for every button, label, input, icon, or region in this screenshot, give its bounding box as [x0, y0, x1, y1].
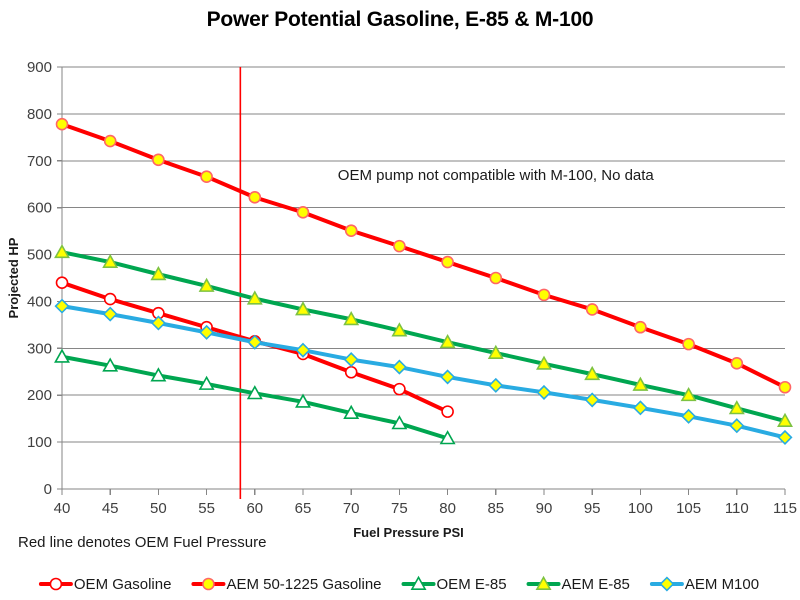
datapoint-0-7 — [394, 384, 405, 395]
x-tick-label-70: 70 — [343, 500, 360, 517]
datapoint-4-2 — [152, 317, 165, 330]
datapoint-1-8 — [442, 257, 453, 268]
x-tick-label-85: 85 — [487, 500, 504, 517]
datapoint-1-1 — [105, 136, 116, 147]
datapoint-1-0 — [57, 119, 68, 130]
datapoint-0-0 — [57, 277, 68, 288]
y-tick-label-200: 200 — [27, 387, 52, 404]
x-tick-label-95: 95 — [584, 500, 601, 517]
y-tick-label-900: 900 — [27, 59, 52, 76]
x-tick-label-50: 50 — [150, 500, 167, 517]
y-tick-label-100: 100 — [27, 434, 52, 451]
datapoint-0-8 — [442, 406, 453, 417]
datapoint-0-6 — [346, 367, 357, 378]
legend-item-4[interactable]: AEM M100 — [652, 576, 759, 593]
x-tick-label-115: 115 — [773, 500, 797, 517]
datapoint-1-5 — [298, 207, 309, 218]
datapoint-1-4 — [249, 192, 260, 203]
legend-label-4: AEM M100 — [685, 576, 759, 593]
series-aem-50-1225-gasoline — [57, 119, 791, 393]
series-oem-e-85 — [55, 350, 454, 443]
y-tick-label-500: 500 — [27, 247, 52, 264]
datapoint-4-10 — [538, 386, 551, 399]
datapoint-4-14 — [730, 419, 743, 432]
series-line-4 — [62, 306, 785, 437]
legend-marker-0 — [50, 579, 61, 590]
datapoint-4-9 — [489, 379, 502, 392]
y-tick-label-400: 400 — [27, 293, 52, 310]
datapoint-1-14 — [731, 358, 742, 369]
datapoint-1-13 — [683, 339, 694, 350]
legend-label-2: OEM E-85 — [437, 576, 507, 593]
datapoint-1-11 — [587, 304, 598, 315]
datapoint-4-13 — [682, 410, 695, 423]
legend-marker-4 — [661, 578, 674, 591]
legend-item-2[interactable]: OEM E-85 — [404, 576, 507, 593]
datapoint-1-10 — [539, 289, 550, 300]
y-tick-label-800: 800 — [27, 106, 52, 123]
y-tick-label-300: 300 — [27, 340, 52, 357]
y-tick-label-0: 0 — [44, 481, 52, 498]
legend-item-3[interactable]: AEM E-85 — [529, 576, 630, 593]
x-tick-label-45: 45 — [102, 500, 119, 517]
datapoint-1-3 — [201, 171, 212, 182]
x-tick-label-75: 75 — [391, 500, 408, 517]
legend-marker-1 — [203, 579, 214, 590]
no-data-note: OEM pump not compatible with M-100, No d… — [338, 167, 655, 184]
x-axis-title: Fuel Pressure PSI — [353, 525, 464, 540]
datapoint-4-1 — [104, 308, 117, 321]
y-tick-label-700: 700 — [27, 153, 52, 170]
datapoint-1-15 — [780, 382, 791, 393]
series-aem-m100 — [56, 300, 792, 444]
datapoint-1-2 — [153, 154, 164, 165]
datapoint-0-1 — [105, 294, 116, 305]
x-tick-label-60: 60 — [246, 500, 263, 517]
legend-item-0[interactable]: OEM Gasoline — [41, 576, 172, 593]
datapoint-1-9 — [490, 273, 501, 284]
legend-item-1[interactable]: AEM 50-1225 Gasoline — [193, 576, 381, 593]
datapoint-4-7 — [393, 361, 406, 374]
chart-container: Power Potential Gasoline, E-85 & M-100 0… — [0, 0, 800, 600]
x-tick-label-65: 65 — [295, 500, 312, 517]
x-tick-label-110: 110 — [725, 500, 749, 517]
x-tick-label-90: 90 — [536, 500, 553, 517]
legend-label-0: OEM Gasoline — [74, 576, 172, 593]
x-tick-label-40: 40 — [54, 500, 71, 517]
datapoint-4-12 — [634, 401, 647, 414]
y-tick-label-600: 600 — [27, 200, 52, 217]
datapoint-4-6 — [345, 353, 358, 366]
x-axis-group: 404550556065707580859095100105110115 — [54, 489, 797, 517]
x-tick-label-80: 80 — [439, 500, 456, 517]
x-tick-label-100: 100 — [628, 500, 653, 517]
red-line-footnote: Red line denotes OEM Fuel Pressure — [18, 534, 266, 551]
datapoint-1-12 — [635, 322, 646, 333]
series-line-1 — [62, 124, 785, 387]
legend-label-3: AEM E-85 — [562, 576, 630, 593]
legend-label-1: AEM 50-1225 Gasoline — [226, 576, 381, 593]
y-axis-title: Projected HP — [6, 237, 21, 318]
chart-plot-area: 0100200300400500600700800900 40455055606… — [0, 0, 800, 600]
legend-group: OEM GasolineAEM 50-1225 GasolineOEM E-85… — [41, 576, 759, 593]
datapoint-4-8 — [441, 371, 454, 384]
x-tick-label-55: 55 — [198, 500, 215, 517]
x-tick-label-105: 105 — [676, 500, 701, 517]
datapoint-1-7 — [394, 241, 405, 252]
datapoint-1-6 — [346, 225, 357, 236]
